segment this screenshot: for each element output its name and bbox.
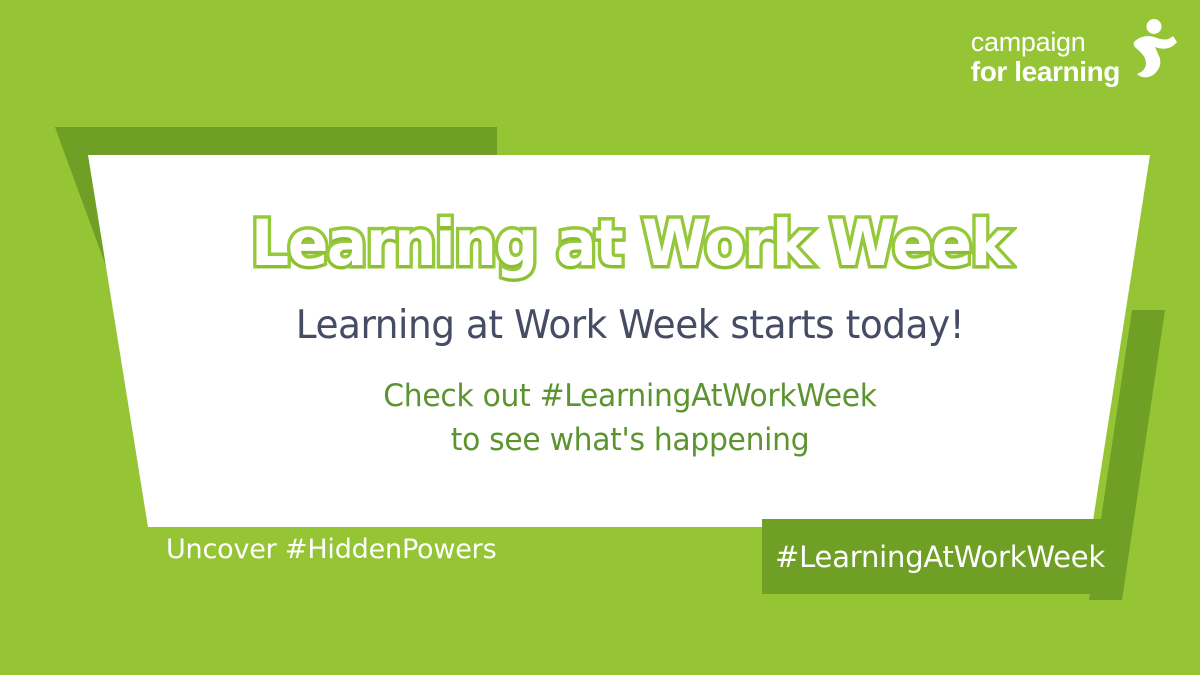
body-copy: Check out #LearningAtWorkWeek to see wha… — [169, 374, 1091, 462]
body-copy-line-1: Check out #LearningAtWorkWeek — [169, 374, 1091, 418]
card-content: Learning at Work Week Learning at Work W… — [150, 160, 1110, 462]
tagline-hidden-powers: Uncover #HiddenPowers — [166, 534, 496, 565]
body-copy-line-2: to see what's happening — [169, 418, 1091, 462]
campaign-for-learning-logo: campaign for learning — [971, 18, 1180, 88]
subheadline: Learning at Work Week starts today! — [169, 305, 1091, 348]
logo-line-campaign: campaign — [971, 29, 1086, 56]
hashtag-badge-label: #LearningAtWorkWeek — [775, 540, 1105, 574]
logo-line-for-learning: for learning — [971, 58, 1120, 86]
page-title: Learning at Work Week — [174, 212, 1086, 275]
poster-canvas: campaign for learning Learning at Work W… — [0, 0, 1200, 675]
leaping-person-icon — [1126, 18, 1180, 80]
logo-wordmark: campaign for learning — [971, 29, 1120, 88]
